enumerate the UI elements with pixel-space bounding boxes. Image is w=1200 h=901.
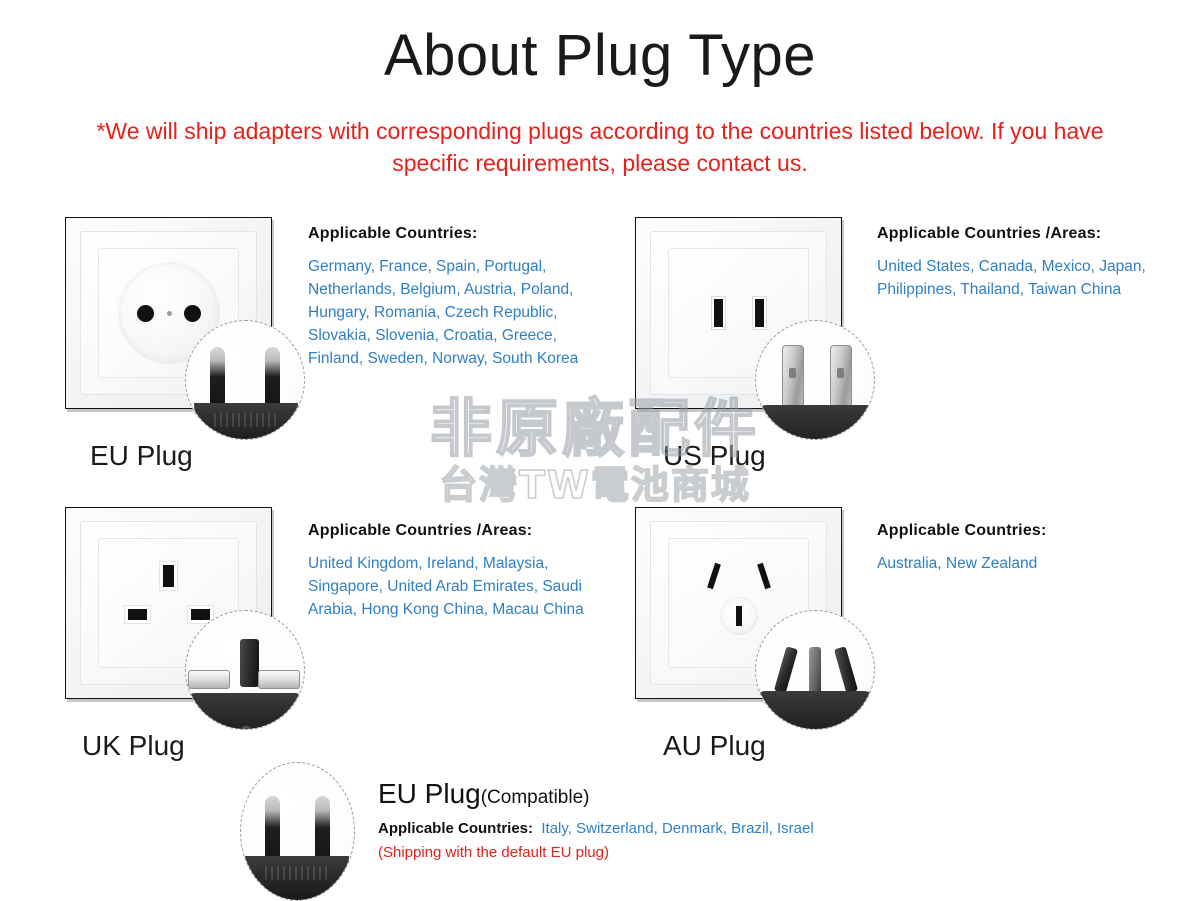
us-plug-body bbox=[758, 405, 874, 440]
eu-compatible-plug-icon bbox=[240, 762, 355, 901]
applicable-heading-eu: Applicable Countries: bbox=[308, 225, 598, 243]
compatible-note: (Shipping with the default EU plug) bbox=[378, 844, 998, 861]
us-plug-blade-left bbox=[782, 345, 804, 411]
shipping-notice: *We will ship adapters with correspondin… bbox=[60, 115, 1140, 179]
us-slot-right bbox=[755, 299, 764, 327]
eu-plug-body bbox=[194, 403, 298, 440]
au-slot-right bbox=[757, 563, 771, 590]
plug-label-au: AU Plug bbox=[663, 730, 766, 762]
au-ground-ring bbox=[720, 597, 758, 635]
au-slot-left bbox=[707, 563, 721, 590]
country-list-uk: United Kingdom, Ireland, Malaysia, Singa… bbox=[308, 552, 608, 621]
plug-card-uk bbox=[55, 505, 280, 705]
plug-card-au bbox=[625, 505, 850, 705]
compatible-title-suffix: (Compatible) bbox=[481, 787, 590, 808]
compatible-heading: Applicable Countries: bbox=[378, 820, 533, 837]
au-plug-foot-left bbox=[762, 725, 790, 730]
au-plug-body bbox=[755, 691, 875, 730]
uk-plug-icon bbox=[185, 610, 305, 730]
plug-info-uk: Applicable Countries /Areas: United King… bbox=[308, 522, 608, 621]
uk-live-slot bbox=[128, 609, 147, 620]
country-list-eu: Germany, France, Spain, Portugal, Nether… bbox=[308, 255, 598, 370]
plug-card-eu bbox=[55, 215, 280, 415]
au-plug-pin-left bbox=[774, 646, 798, 694]
uk-plug-live-pin bbox=[188, 670, 230, 689]
eu-plug-icon bbox=[185, 320, 305, 440]
eu-plug-pin-left bbox=[265, 796, 280, 862]
compatible-country-list: Italy, Switzerland, Denmark, Brazil, Isr… bbox=[541, 820, 813, 837]
plug-label-us: US Plug bbox=[663, 440, 766, 472]
au-plug-icon bbox=[755, 610, 875, 730]
eu-pin-hole-left bbox=[137, 305, 154, 322]
compatible-country-row: Applicable Countries: Italy, Switzerland… bbox=[378, 818, 998, 840]
eu-center-dot bbox=[167, 311, 172, 316]
uk-earth-slot bbox=[163, 565, 174, 587]
au-socket-icon bbox=[625, 505, 850, 705]
plug-info-eu: Applicable Countries: Germany, France, S… bbox=[308, 225, 598, 370]
compatible-title: EU Plug bbox=[378, 778, 481, 809]
applicable-heading-au: Applicable Countries: bbox=[877, 522, 1177, 540]
page-title: About Plug Type bbox=[0, 22, 1200, 89]
us-plug-icon bbox=[755, 320, 875, 440]
plug-card-us bbox=[625, 215, 850, 415]
compatible-title-row: EU Plug(Compatible) bbox=[378, 780, 998, 808]
us-socket-icon bbox=[625, 215, 850, 415]
uk-neutral-slot bbox=[191, 609, 210, 620]
uk-plug-body bbox=[185, 693, 305, 730]
us-slot-left bbox=[714, 299, 723, 327]
eu-plug-body bbox=[245, 856, 349, 901]
uk-socket-icon bbox=[55, 505, 280, 705]
uk-plug-screw bbox=[239, 725, 253, 730]
eu-socket-icon bbox=[55, 215, 280, 415]
eu-plug-pin-right bbox=[315, 796, 330, 862]
au-plug-pin-right bbox=[834, 646, 858, 694]
eu-plug-pin-right bbox=[265, 347, 280, 409]
uk-plug-neutral-pin bbox=[258, 670, 300, 689]
eu-plug-pin-left bbox=[210, 347, 225, 409]
plug-info-us: Applicable Countries /Areas: United Stat… bbox=[877, 225, 1177, 301]
country-list-us: United States, Canada, Mexico, Japan, Ph… bbox=[877, 255, 1177, 301]
us-plug-blade-right bbox=[830, 345, 852, 411]
applicable-heading-us: Applicable Countries /Areas: bbox=[877, 225, 1177, 243]
uk-plug-earth-pin bbox=[240, 639, 259, 687]
au-plug-foot-right bbox=[840, 725, 868, 730]
plug-type-infographic: About Plug Type *We will ship adapters w… bbox=[0, 0, 1200, 900]
au-ground-slot bbox=[736, 606, 742, 626]
eu-pin-hole-right bbox=[184, 305, 201, 322]
plug-label-eu: EU Plug bbox=[90, 440, 193, 472]
eu-compatible-info: EU Plug(Compatible) Applicable Countries… bbox=[378, 780, 998, 861]
plug-info-au: Applicable Countries: Australia, New Zea… bbox=[877, 522, 1177, 575]
plug-label-uk: UK Plug bbox=[82, 730, 185, 762]
applicable-heading-uk: Applicable Countries /Areas: bbox=[308, 522, 608, 540]
country-list-au: Australia, New Zealand bbox=[877, 552, 1177, 575]
